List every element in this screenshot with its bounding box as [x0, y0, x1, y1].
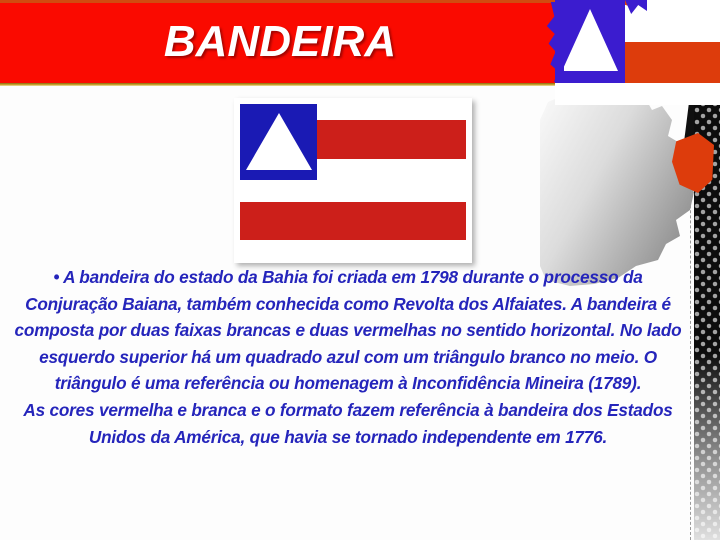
dashed-divider-line [690, 150, 691, 540]
flag-red-stripe-bottom [240, 202, 466, 240]
slide-canvas: BANDEIRA • A bandeira do estado da Bahia… [0, 0, 720, 540]
body-paragraph-1: • A bandeira do estado da Bahia foi cria… [10, 264, 686, 397]
flag-inner-canvas [240, 104, 466, 257]
flag-white-triangle [246, 113, 312, 170]
body-paragraph-2: As cores vermelha e branca e o formato f… [10, 397, 686, 450]
corner-flag-canton [555, 0, 625, 83]
flag-blue-canton [240, 104, 317, 180]
flag-image-bahia [234, 98, 472, 263]
body-text-block: • A bandeira do estado da Bahia foi cria… [10, 264, 686, 450]
page-title: BANDEIRA [0, 17, 560, 67]
